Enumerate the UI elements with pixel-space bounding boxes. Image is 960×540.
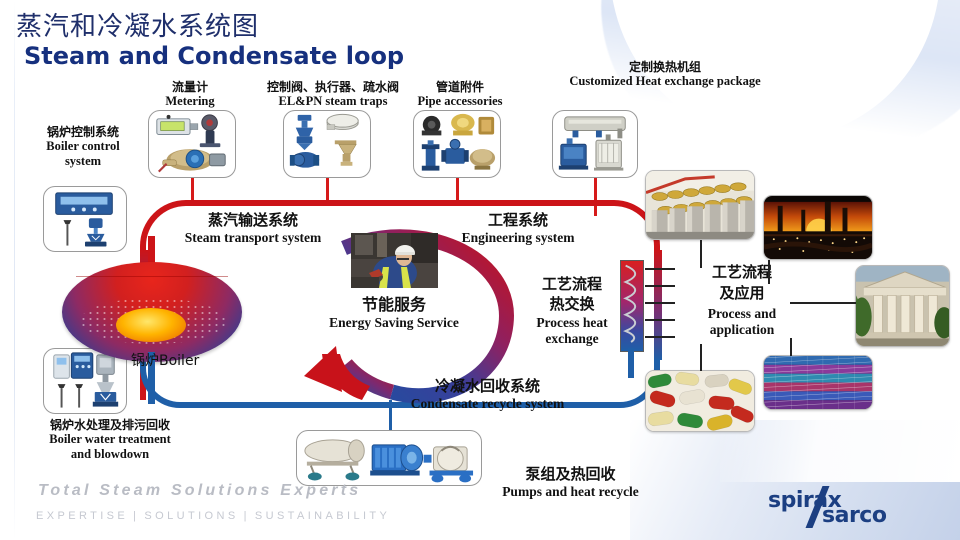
heat-exchanger-outlet (628, 348, 634, 378)
metering-products-icon (149, 111, 235, 177)
boiler-vessel (62, 262, 242, 362)
hx-tick-2 (645, 285, 675, 287)
label-boiler: 锅炉Boiler (131, 350, 199, 370)
refinery-sunset-photo[interactable] (763, 195, 873, 260)
label-condensate-recycle-system: 冷凝水回收系统 Condensate recycle system (395, 378, 580, 412)
engineer-photo-art (351, 233, 438, 288)
textile-fabric-photo[interactable] (763, 355, 873, 410)
label-pumps-heat-recycle: 泵组及热回收 Pumps and heat recycle (488, 466, 653, 500)
boiler-flame (116, 308, 186, 342)
footer-divider-2: | (239, 510, 255, 522)
boiler-waterline (76, 276, 228, 277)
institution-building-photo[interactable] (855, 265, 950, 347)
connector-food-cans (700, 240, 702, 268)
hx-tick-4 (645, 319, 675, 321)
connector-pharma (700, 344, 702, 371)
pipe-accessory-products-icon (414, 111, 500, 177)
textile-fabric-photo-art (764, 356, 872, 410)
product-box-boiler-control[interactable] (43, 186, 127, 252)
boiler-control-products-icon (44, 187, 126, 251)
hx-tick-3 (645, 302, 675, 304)
pharma-capsules-photo[interactable] (645, 370, 755, 432)
spirax-sarco-logo[interactable]: spirax sarco (768, 488, 948, 528)
loop-right-gradient-segment (654, 250, 662, 360)
label-process-and-application: 工艺流程 及应用 Process and application (687, 264, 797, 338)
connector-pumps (389, 400, 392, 432)
footer-tagline: Total Steam Solutions Experts (38, 482, 361, 500)
page-title-chinese: 蒸汽和冷凝水系统图 (16, 6, 259, 43)
product-box-pipe-accessories[interactable] (413, 110, 501, 178)
connector-textile (790, 338, 792, 356)
food-cans-photo[interactable] (645, 170, 755, 240)
product-box-pumps[interactable] (296, 430, 482, 486)
pharma-capsules-photo-art (646, 371, 754, 432)
food-cans-photo-art (646, 171, 754, 240)
footer-pillar-sustainability: SUSTAINABILITY (255, 510, 390, 522)
footer-pillars: EXPERTISE|SOLUTIONS|SUSTAINABILITY (36, 510, 390, 522)
institution-building-photo-art (856, 266, 949, 346)
engineer-service-photo (351, 233, 438, 288)
footer-divider-1: | (128, 510, 144, 522)
label-control-valves: 控制阀、执行器、疏水阀 EL&PN steam traps (243, 80, 423, 109)
logo-text-sarco: sarco (822, 503, 886, 528)
label-heat-exchange-package: 定制换热机组 Customized Heat exchange package (540, 60, 790, 89)
control-valve-products-icon (284, 111, 370, 177)
label-energy-saving-service: 节能服务 Energy Saving Service (318, 296, 470, 331)
boiler-water-products-icon (44, 349, 126, 413)
hx-tick-1 (645, 268, 675, 270)
label-boiler-water-treatment: 锅炉水处理及排污回收 Boiler water treatment and bl… (20, 418, 200, 462)
page-title-english: Steam and Condensate loop (24, 42, 404, 70)
product-box-control-valves[interactable] (283, 110, 371, 178)
label-metering: 流量计 Metering (140, 80, 240, 109)
footer-pillar-solutions: SOLUTIONS (144, 510, 238, 522)
product-box-boiler-water[interactable] (43, 348, 127, 414)
connector-building (790, 302, 856, 304)
label-process-heat-exchange: 工艺流程 热交换 Process heat exchange (517, 276, 627, 347)
label-engineering-system: 工程系统 Engineering system (443, 212, 593, 246)
label-steam-transport-system: 蒸汽输送系统 Steam transport system (168, 212, 338, 246)
product-box-metering[interactable] (148, 110, 236, 178)
slide-canvas: 蒸汽和冷凝水系统图 Steam and Condensate loop 流量计 … (0, 0, 960, 540)
heat-exchange-package-icon (553, 111, 637, 177)
pump-products-icon (297, 431, 481, 486)
connector-refinery (768, 260, 770, 284)
hx-tick-5 (645, 336, 675, 338)
label-pipe-accessories: 管道附件 Pipe accessories (400, 80, 520, 109)
background-wash-bottom-right-mask (720, 420, 960, 482)
footer-pillar-expertise: EXPERTISE (36, 510, 128, 522)
product-box-heat-exchange-package[interactable] (552, 110, 638, 178)
refinery-sunset-photo-art (764, 196, 872, 260)
label-boiler-control-system: 锅炉控制系统 Boiler control system (28, 125, 138, 169)
background-left-line (14, 0, 15, 540)
